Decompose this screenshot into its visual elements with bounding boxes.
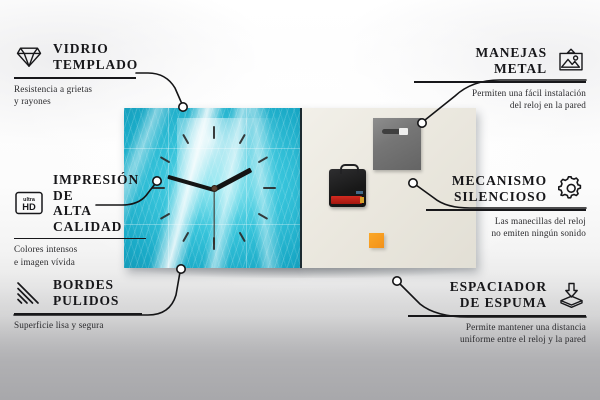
feature-rule: [14, 238, 146, 240]
feature-bordes-pulidos[interactable]: BORDES PULIDOS Superficie lisa y segura: [14, 276, 142, 331]
feature-manejas-metal[interactable]: MANEJAS METAL Permiten una fácil instala…: [414, 44, 586, 112]
feature-title: VIDRIO TEMPLADO: [53, 41, 138, 72]
clock-tick: [258, 213, 269, 220]
clock-minute-hand: [167, 174, 214, 191]
clock-tick: [213, 126, 215, 139]
clock-tick: [239, 134, 246, 145]
connector-vidrio-templado: [136, 73, 182, 104]
clock-tick: [263, 187, 276, 189]
glass-pane-line: [246, 108, 247, 268]
clock-tick: [239, 232, 246, 243]
feather-highlight: [177, 118, 286, 230]
battery: [331, 196, 362, 204]
svg-text:HD: HD: [22, 202, 36, 213]
hanging-frame-icon: [556, 46, 586, 76]
feature-description: Permite mantener una distancia uniforme …: [408, 321, 586, 346]
product-infographic: VIDRIO TEMPLADO Resistencia a grietas y …: [0, 0, 600, 400]
ultra-hd-icon: ultra HD: [14, 188, 44, 218]
quartz-mechanism: [329, 169, 366, 207]
arrow-down-pad-icon: [556, 280, 586, 310]
feature-header: MECANISMO SILENCIOSO: [426, 172, 586, 206]
clock-tick: [160, 156, 171, 163]
feature-header: ultra HD IMPRESIÓN DE ALTA CALIDAD: [14, 172, 146, 235]
clock-center-cap: [211, 185, 218, 192]
feature-title: ESPACIADOR DE ESPUMA: [450, 279, 547, 310]
metal-hanger-plate: [373, 118, 421, 170]
mechanism-hanger-loop: [340, 164, 359, 174]
glass-pane-line: [124, 148, 302, 149]
feature-header: MANEJAS METAL: [414, 44, 586, 78]
hanger-slot: [382, 129, 408, 134]
feature-rule: [414, 81, 586, 83]
clock-second-hand: [213, 189, 214, 245]
clock-tick: [182, 232, 189, 243]
glass-pane-line: [168, 108, 169, 268]
feature-espaciador-espuma[interactable]: ESPACIADOR DE ESPUMA Permite mantener un…: [408, 278, 586, 346]
gear-icon: [556, 174, 586, 204]
feature-description: Superficie lisa y segura: [14, 319, 142, 332]
clock-front-face: [124, 108, 302, 268]
feature-rule: [14, 77, 136, 79]
product-stage: [124, 108, 476, 268]
feature-rule: [14, 313, 142, 315]
clock-tick: [152, 187, 165, 189]
feature-header: VIDRIO TEMPLADO: [14, 40, 136, 74]
feature-title: MANEJAS METAL: [475, 45, 547, 76]
clock-tick: [160, 213, 171, 220]
feature-header: ESPACIADOR DE ESPUMA: [408, 278, 586, 312]
feature-impresion-alta-calidad[interactable]: ultra HD IMPRESIÓN DE ALTA CALIDAD Color…: [14, 172, 146, 269]
diamond-icon: [14, 42, 44, 72]
diagonal-stripes-icon: [14, 278, 44, 308]
feature-rule: [408, 315, 586, 317]
feature-rule: [426, 209, 586, 211]
clock-tick: [182, 134, 189, 145]
feature-description: Resistencia a grietas y rayones: [14, 83, 136, 108]
feature-description: Las manecillas del reloj no emiten ningú…: [426, 215, 586, 240]
feature-header: BORDES PULIDOS: [14, 276, 142, 310]
feature-mecanismo-silencioso[interactable]: MECANISMO SILENCIOSO Las manecillas del …: [426, 172, 586, 240]
clock-hour-hand: [213, 168, 252, 192]
feature-title: IMPRESIÓN DE ALTA CALIDAD: [53, 172, 146, 235]
foam-spacer: [369, 233, 384, 248]
feature-description: Permiten una fácil instalación del reloj…: [414, 87, 586, 112]
mechanism-label: [356, 191, 363, 194]
feature-vidrio-templado[interactable]: VIDRIO TEMPLADO Resistencia a grietas y …: [14, 40, 136, 108]
clock-tick: [258, 156, 269, 163]
feature-title: BORDES PULIDOS: [53, 277, 119, 308]
feature-description: Colores intensos e imagen vívida: [14, 243, 146, 268]
feature-title: MECANISMO SILENCIOSO: [452, 173, 547, 204]
